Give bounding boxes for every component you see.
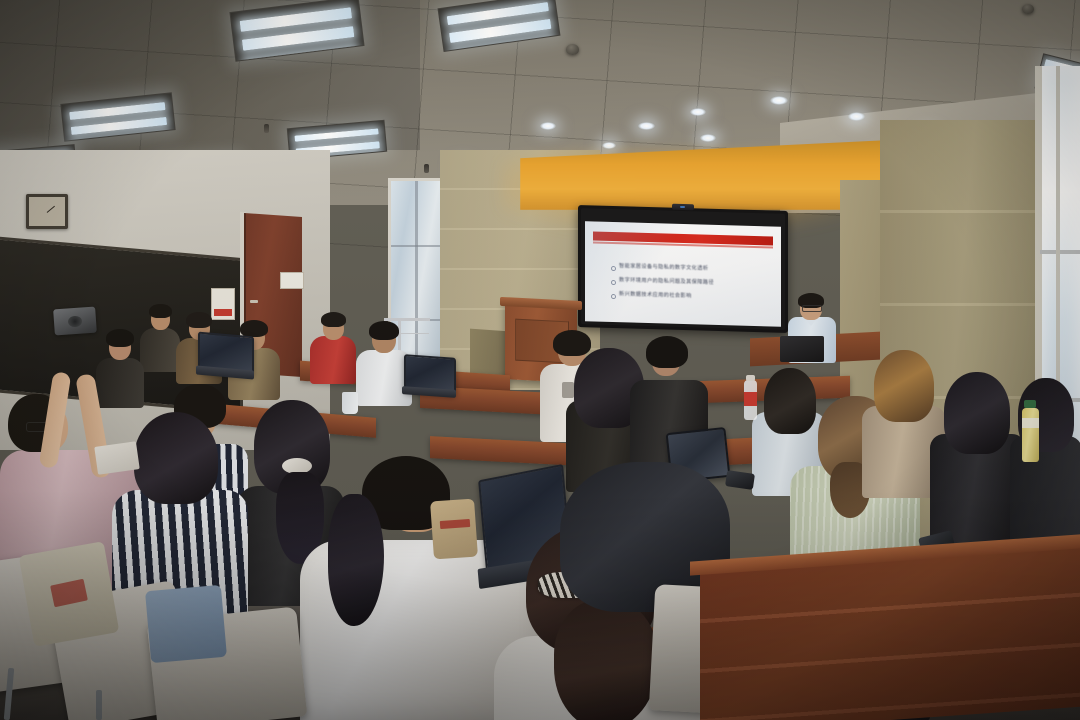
hair: [186, 312, 212, 328]
ceiling-downlight: [602, 142, 616, 149]
ceiling-downlight: [638, 122, 655, 130]
slide-line-1: 智能家居设备与隐私的数字文化透析: [619, 264, 708, 272]
ceiling-downlight: [770, 96, 788, 105]
notebook: [94, 441, 139, 475]
door-sign: [280, 272, 304, 289]
bottle-cap: [746, 375, 755, 381]
wall-clock: [26, 194, 68, 229]
bottle-yellow-liquid: [1022, 408, 1039, 462]
ceiling-dome-camera: [566, 44, 579, 55]
ceiling-sprinkler: [424, 164, 429, 173]
window-mullion: [1040, 250, 1080, 254]
presentation-display[interactable]: 智能家居设备与隐私的数字文化透析 数字环境用户的隐私问题及其保障路径 新兴数据技…: [578, 205, 788, 333]
slide-bullet-icon: [611, 280, 616, 285]
ceiling-downlight: [540, 122, 556, 130]
hair: [321, 312, 346, 327]
bottle-cap: [1024, 400, 1036, 408]
ceiling-dome-camera: [1022, 4, 1034, 14]
attendee-red-shirt: [310, 310, 356, 380]
slide-canvas: 智能家居设备与隐私的数字文化透析 数字环境用户的隐私问题及其保障路径 新兴数据技…: [585, 221, 781, 326]
ceiling-downlight: [700, 134, 716, 142]
hair: [149, 304, 172, 318]
slide-bullet-icon: [611, 266, 616, 271]
bottle-label: [744, 392, 757, 406]
hair: [240, 320, 268, 337]
ceiling-downlight: [848, 112, 865, 121]
paper-cup: [342, 392, 358, 414]
hair: [369, 321, 399, 340]
tote-bag: [430, 499, 478, 560]
hair: [106, 329, 134, 347]
hair-long: [944, 372, 1010, 454]
blue-jacket: [145, 585, 227, 663]
torso: [310, 336, 356, 384]
desk-front-right: [700, 547, 1080, 720]
hair: [134, 412, 218, 504]
attendee: [1010, 378, 1080, 538]
slide-bullet-icon: [611, 294, 616, 299]
hair: [646, 336, 688, 368]
presenter-monitor: [780, 336, 824, 362]
glasses-icon: [802, 305, 822, 312]
hair-long: [874, 350, 934, 422]
ceiling-sprinkler: [264, 124, 269, 133]
photo-scene: 智能家居设备与隐私的数字文化透析 数字环境用户的隐私问题及其保障路径 新兴数据技…: [0, 0, 1080, 720]
chair-leg: [96, 690, 102, 720]
ceiling-downlight: [690, 108, 706, 116]
door-handle[interactable]: [250, 300, 258, 303]
window-rail: [384, 318, 430, 321]
slide-line-2: 数字环境用户的隐私问题及其保障路径: [619, 278, 714, 286]
conference-camera-icon: [672, 204, 694, 211]
camera-device[interactable]: [53, 307, 97, 336]
bottle-label: [1022, 418, 1039, 428]
torso: [1010, 436, 1080, 546]
slide-line-3: 新兴数据技术应用的社会影响: [619, 292, 692, 299]
